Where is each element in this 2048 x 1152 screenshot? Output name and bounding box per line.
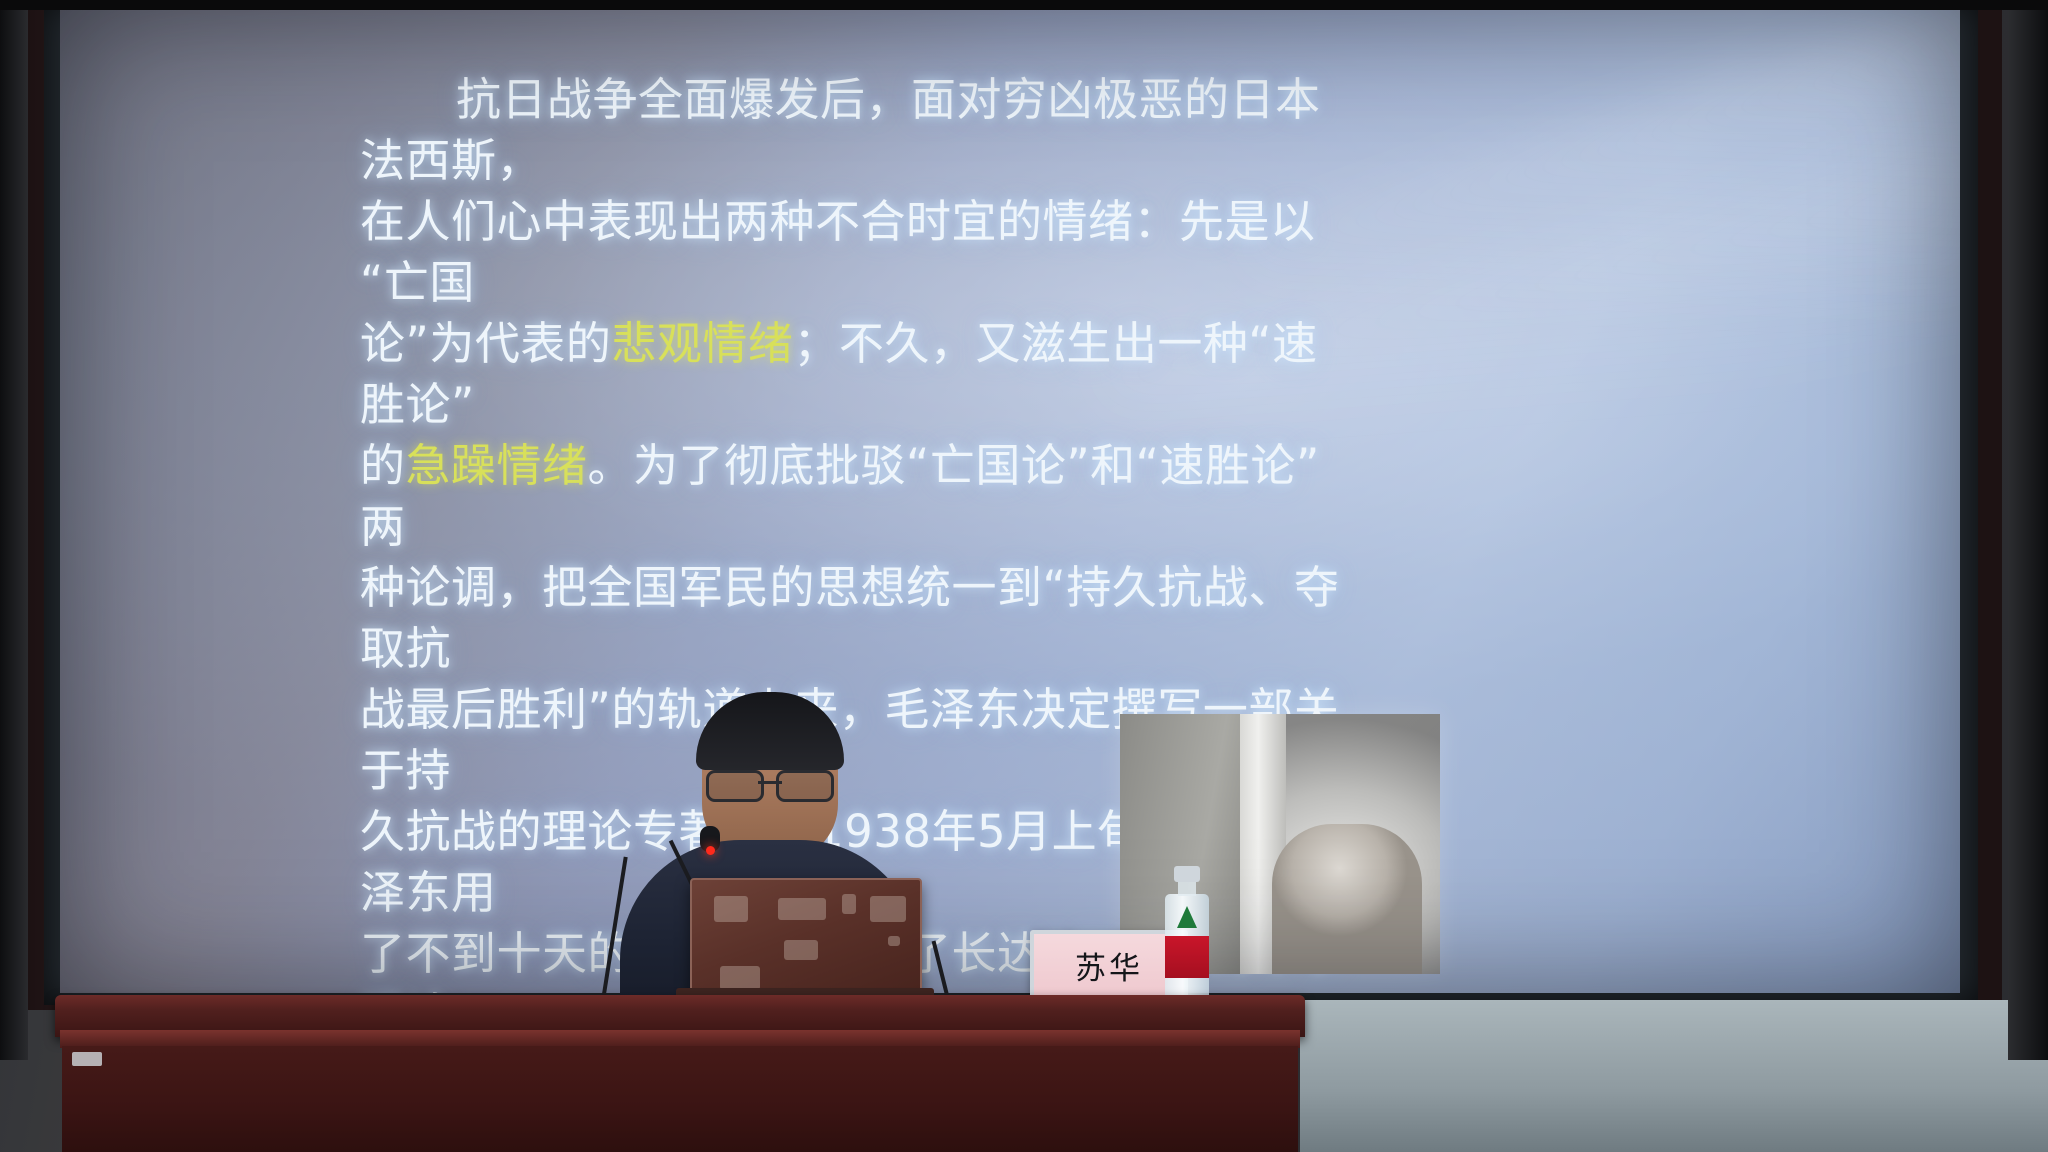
laptop-sticker — [778, 898, 826, 920]
screen-vignette — [60, 8, 1960, 993]
bottle-neck — [1178, 880, 1196, 896]
laptop-sticker — [888, 936, 900, 946]
glasses-icon — [706, 770, 834, 796]
nameplate-text: 苏华 — [1075, 943, 1143, 988]
top-edge-strip — [0, 0, 2048, 10]
laptop-sticker — [870, 896, 906, 922]
glasses-right-lens — [776, 770, 834, 802]
bottle-label — [1165, 936, 1209, 978]
laptop-sticker — [714, 896, 748, 922]
laptop[interactable] — [690, 878, 922, 1000]
laptop-sticker — [842, 894, 856, 914]
water-bottle — [1165, 866, 1209, 1000]
bottle-cap — [1174, 866, 1200, 882]
glasses-left-lens — [706, 770, 764, 802]
microphone-led-indicator — [706, 846, 715, 855]
laptop-sticker — [720, 966, 760, 990]
lecture-scene: 抗日战争全面爆发后，面对穷凶极恶的日本法西斯，在人们心中表现出两种不合时宜的情绪… — [0, 0, 2048, 1152]
projection-screen: 抗日战争全面爆发后，面对穷凶极恶的日本法西斯，在人们心中表现出两种不合时宜的情绪… — [60, 8, 1960, 993]
podium-badge — [72, 1052, 102, 1066]
floor-right-region — [1300, 1000, 2048, 1152]
left-pillar — [0, 0, 28, 1060]
presenter-hair — [696, 692, 844, 770]
right-pillar — [2008, 0, 2048, 1060]
laptop-sticker — [784, 940, 818, 960]
podium-body — [62, 1046, 1298, 1152]
